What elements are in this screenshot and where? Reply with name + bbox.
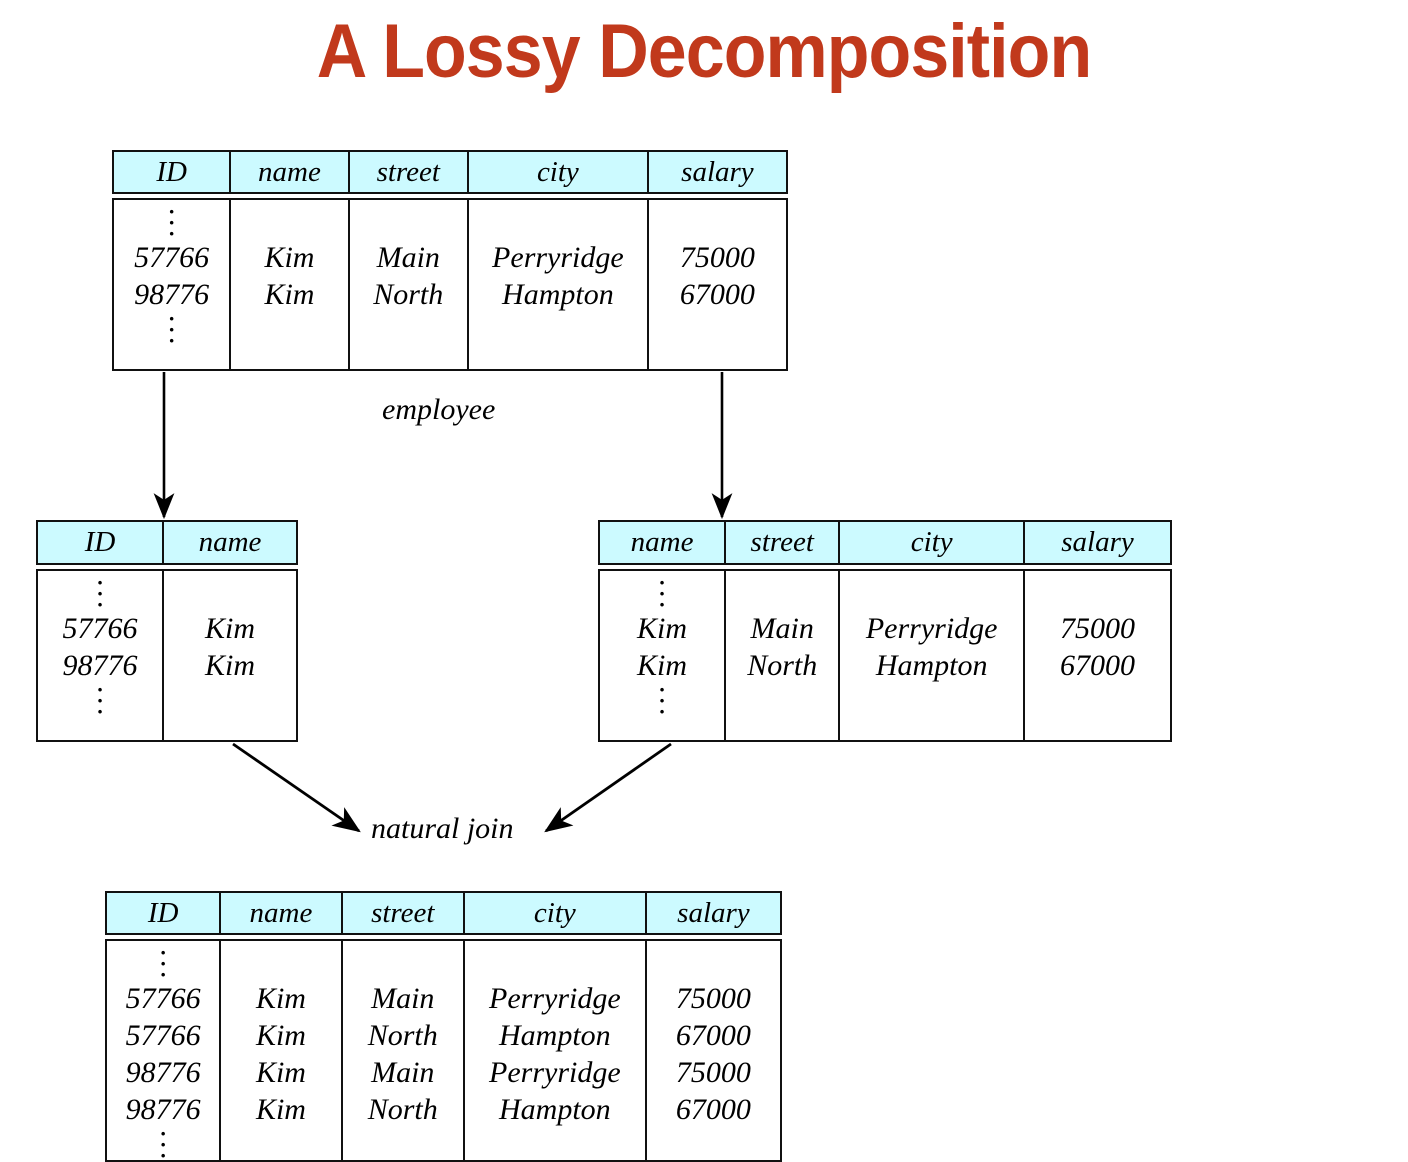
table-cell-group-salary: ··· 75000 67000 [1025, 571, 1170, 740]
ellipsis-top-name: ··· [658, 577, 665, 610]
column-header-name: name [600, 522, 726, 563]
cell-value: Hampton [499, 1017, 611, 1054]
cell-value: 75000 [676, 1054, 751, 1091]
column-header-street: street [726, 522, 840, 563]
table-cell-group-id: ··· 57766 98776 ··· [38, 571, 164, 740]
cell-value: 57766 [134, 239, 209, 276]
cell-value: 67000 [680, 276, 755, 313]
cell-value: 98776 [126, 1054, 201, 1091]
cell-value: Perryridge [489, 1054, 621, 1091]
cell-value: Main [377, 239, 440, 276]
table-left-fragment-body: ··· 57766 98776 ··· ··· Kim Kim [36, 569, 298, 742]
table-employee-body: ··· 57766 98776 ··· ··· Kim Kim ··· Main… [112, 198, 788, 371]
cell-value: Perryridge [866, 610, 998, 647]
table-right-fragment-body: ··· Kim Kim ··· ··· Main North ··· Perry… [598, 569, 1172, 742]
cell-value: Kim [205, 647, 255, 684]
cell-value: 75000 [676, 980, 751, 1017]
cell-value: Kim [637, 610, 687, 647]
table-cell-group-city: ··· Perryridge Hampton [469, 200, 649, 369]
column-header-name: name [221, 893, 342, 933]
table-right-fragment-header-row: name street city salary [598, 520, 1172, 565]
cell-value: 57766 [126, 1017, 201, 1054]
ellipsis-bottom-name: ··· [658, 684, 665, 717]
column-header-salary: salary [1025, 522, 1170, 563]
arrow-right-fragment-to-join [546, 744, 671, 831]
cell-value: Kim [264, 239, 314, 276]
ellipsis-top-id: ··· [159, 947, 166, 980]
ellipsis-bottom-id: ··· [168, 313, 175, 346]
column-header-street: street [350, 152, 469, 192]
ellipsis-bottom-id: ··· [159, 1128, 166, 1160]
table-left-fragment-header-row: ID name [36, 520, 298, 565]
column-header-city: city [840, 522, 1025, 563]
column-header-city: city [469, 152, 649, 192]
table-cell-group-salary: ··· 75000 67000 75000 67000 [647, 941, 780, 1160]
cell-value: Hampton [502, 276, 614, 313]
column-header-salary: salary [649, 152, 786, 192]
table-cell-group-id: ··· 57766 98776 ··· [114, 200, 231, 369]
cell-value: North [368, 1091, 438, 1128]
table-cell-group-street: ··· Main North [726, 571, 840, 740]
table-cell-group-name: ··· Kim Kim ··· [600, 571, 726, 740]
cell-value: Kim [256, 1017, 306, 1054]
cell-value: 67000 [676, 1091, 751, 1128]
cell-value: Hampton [876, 647, 988, 684]
cell-value: 67000 [676, 1017, 751, 1054]
cell-value: North [747, 647, 817, 684]
cell-value: 67000 [1060, 647, 1135, 684]
cell-value: 75000 [680, 239, 755, 276]
slide-canvas: A Lossy Decomposition ID name street cit… [0, 0, 1408, 1162]
column-header-salary: salary [647, 893, 780, 933]
ellipsis-top-id: ··· [168, 206, 175, 239]
cell-value: 57766 [126, 980, 201, 1017]
table-cell-group-street: ··· Main North Main North [343, 941, 465, 1160]
column-header-id: ID [38, 522, 164, 563]
ellipsis-bottom-id: ··· [96, 684, 103, 717]
cell-value: Kim [256, 1054, 306, 1091]
table-join-result-body: ··· 57766 57766 98776 98776 ··· ··· Kim … [105, 939, 782, 1162]
label-natural-join: natural join [371, 812, 514, 846]
table-cell-group-street: ··· Main North [350, 200, 469, 369]
table-cell-group-name: ··· Kim Kim [164, 571, 296, 740]
column-header-id: ID [107, 893, 221, 933]
column-header-street: street [343, 893, 465, 933]
cell-value: Hampton [499, 1091, 611, 1128]
column-header-city: city [465, 893, 647, 933]
cell-value: 57766 [63, 610, 138, 647]
cell-value: Perryridge [492, 239, 624, 276]
column-header-id: ID [114, 152, 231, 192]
table-cell-group-name: ··· Kim Kim [231, 200, 349, 369]
cell-value: North [368, 1017, 438, 1054]
cell-value: Main [751, 610, 814, 647]
table-cell-group-city: ··· Perryridge Hampton Perryridge Hampto… [465, 941, 647, 1160]
table-cell-group-id: ··· 57766 57766 98776 98776 ··· [107, 941, 221, 1160]
table-join-result-header-row: ID name street city salary [105, 891, 782, 935]
table-cell-group-city: ··· Perryridge Hampton [840, 571, 1025, 740]
cell-value: Main [371, 980, 434, 1017]
page-title: A Lossy Decomposition [56, 8, 1351, 96]
cell-value: Kim [205, 610, 255, 647]
label-employee: employee [382, 393, 495, 427]
column-header-name: name [231, 152, 349, 192]
cell-value: Kim [264, 276, 314, 313]
table-cell-group-salary: ··· 75000 67000 [649, 200, 786, 369]
table-cell-group-name: ··· Kim Kim Kim Kim [221, 941, 342, 1160]
table-employee-header-row: ID name street city salary [112, 150, 788, 194]
cell-value: Main [371, 1054, 434, 1091]
cell-value: 75000 [1060, 610, 1135, 647]
column-header-name: name [164, 522, 296, 563]
cell-value: Kim [256, 1091, 306, 1128]
cell-value: Kim [256, 980, 306, 1017]
cell-value: Perryridge [489, 980, 621, 1017]
cell-value: North [373, 276, 443, 313]
ellipsis-top-id: ··· [96, 577, 103, 610]
arrow-left-fragment-to-join [233, 744, 359, 831]
